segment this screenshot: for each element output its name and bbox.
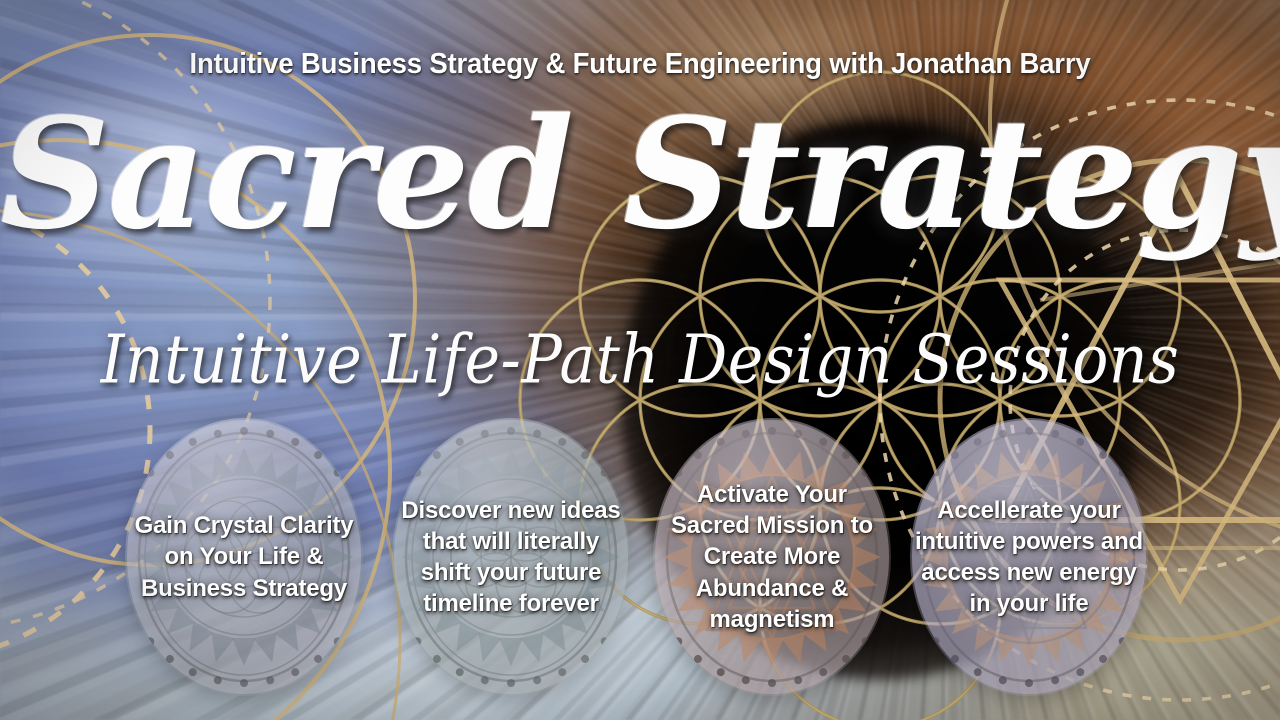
benefit-seal-label: Discover new ideas that will literally s… [396, 495, 626, 620]
banner-canvas: Intuitive Business Strategy & Future Eng… [0, 0, 1280, 720]
page-title: Sacred Strategy [0, 96, 1280, 251]
benefit-seal[interactable]: Gain Crystal Clarity on Your Life & Busi… [125, 418, 363, 696]
benefit-seal-label: Gain Crystal Clarity on Your Life & Busi… [129, 510, 359, 604]
tagline: Intuitive Business Strategy & Future Eng… [32, 48, 1248, 81]
benefit-seal-label: Activate Your Sacred Mission to Create M… [657, 479, 887, 635]
benefit-seal[interactable]: Activate Your Sacred Mission to Create M… [653, 418, 891, 696]
benefit-seal[interactable]: Accellerate your intuitive powers and ac… [910, 418, 1148, 696]
benefit-seal-list: Gain Crystal Clarity on Your Life & Busi… [0, 418, 1280, 696]
benefit-seal[interactable]: Discover new ideas that will literally s… [392, 418, 630, 696]
page-subtitle: Intuitive Life-Path Design Sessions [0, 321, 1280, 399]
benefit-seal-label: Accellerate your intuitive powers and ac… [914, 495, 1144, 620]
